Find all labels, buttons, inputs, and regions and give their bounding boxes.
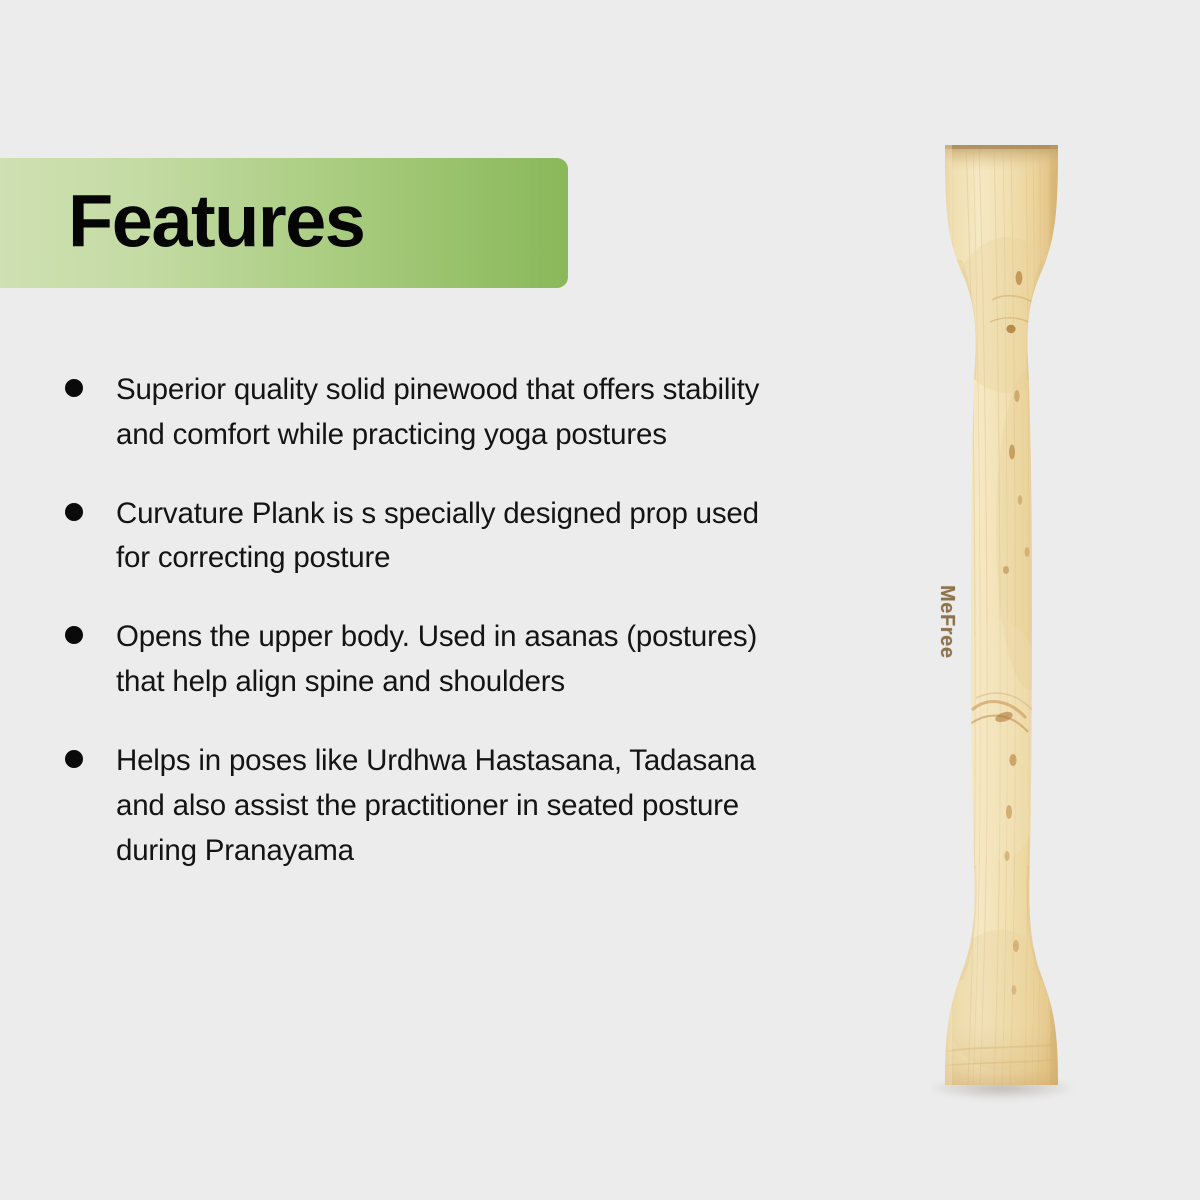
list-item: Curvature Plank is s specially designed …: [0, 492, 800, 582]
feature-list: Superior quality solid pinewood that off…: [0, 368, 800, 907]
feature-page: Features Superior quality solid pinewood…: [0, 0, 1200, 1200]
bullet-dot-icon: [65, 750, 83, 768]
curvature-plank-illustration: [880, 100, 1140, 1130]
list-item: Superior quality solid pinewood that off…: [0, 368, 800, 458]
feature-text: Curvature Plank is s specially designed …: [116, 492, 776, 582]
bullet-dot-icon: [65, 503, 83, 521]
features-banner: Features: [0, 158, 568, 288]
list-item: Opens the upper body. Used in asanas (po…: [0, 615, 800, 705]
page-title: Features: [68, 185, 364, 259]
feature-text: Helps in poses like Urdhwa Hastasana, Ta…: [116, 739, 776, 873]
bullet-dot-icon: [65, 626, 83, 644]
plank-body: [940, 145, 1070, 1085]
brand-engraving: MeFree: [935, 585, 958, 659]
bullet-dot-icon: [65, 379, 83, 397]
features-column: Features Superior quality solid pinewood…: [0, 0, 820, 1200]
feature-text: Opens the upper body. Used in asanas (po…: [116, 615, 776, 705]
product-image: MeFree: [880, 100, 1140, 1130]
list-item: Helps in poses like Urdhwa Hastasana, Ta…: [0, 739, 800, 873]
feature-text: Superior quality solid pinewood that off…: [116, 368, 776, 458]
